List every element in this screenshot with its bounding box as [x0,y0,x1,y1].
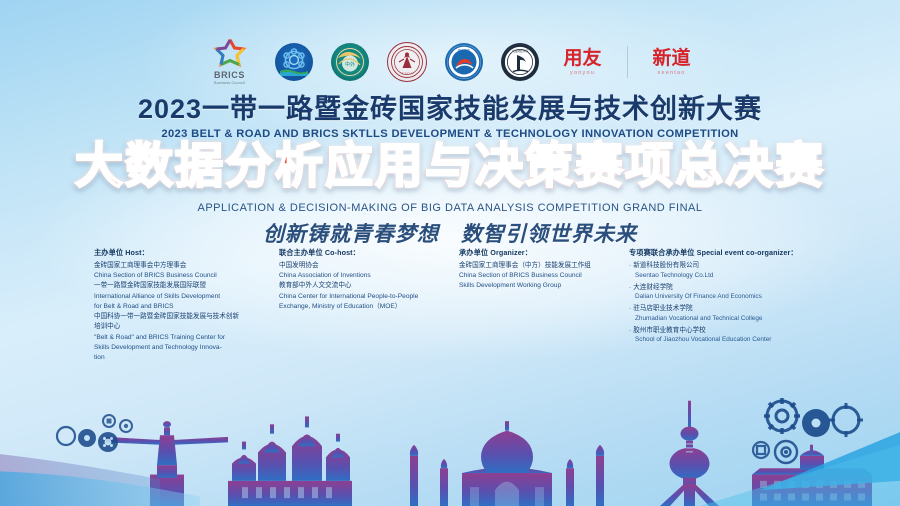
logo-divider [627,46,628,78]
organizer-credits: 主办单位 Host： 金砖国家工商理事会中方理事会 China Section … [94,248,834,363]
st-basils-cathedral-silhouette [228,416,352,506]
host-line: 中国科协一带一路暨金砖国家技能发展与技术创新 [94,312,279,322]
svg-text:C.S.D.A: C.S.D.A [401,72,412,76]
svg-text:职业教育: 职业教育 [457,48,469,53]
special-item-cn: 驻马店职业技术学院 [633,305,692,312]
special-coorganizer-item: ·新道科技股份有限公司 Seentao Technology Co.Ltd [629,261,834,281]
organizer-line: Skills Development Working Group [459,281,629,291]
cohost-line: 中国发明协会 [279,261,459,271]
competition-title-cn: 2023一带一路暨金砖国家技能发展与技术创新大赛 [0,96,900,123]
special-item-en: Dalian University Of Finance And Economi… [629,292,834,302]
event-tagline: 创新铸就青春梦想 数智引领世界未来 [0,218,900,248]
host-line: Skills Development and Technology Innova… [94,343,279,353]
skills-alliance-logo: C.S.D.A [387,42,427,82]
cohost-line: 教育部中外人文交流中心 [279,281,459,291]
organizer-line: 金砖国家工商理事会（中方）技能发展工作组 [459,261,629,271]
host-line: for Belt & Road and BRICS [94,302,279,312]
special-item-cn: 胶州市职业教育中心学校 [633,327,706,334]
university-emblem-logo: 大连财经学院 [501,43,539,81]
cohost-column: 联合主办单位 Co-host： 中国发明协会 China Association… [279,248,459,312]
host-line: tion [94,353,279,363]
cohost-line: Exchange, Ministry of Education（MOE） [279,302,459,312]
gear-cluster-left [52,410,144,456]
bullet-icon: · [629,284,631,291]
cohost-line: China Association of Inventions [279,271,459,281]
competition-poster: BRICS Business Council [0,0,900,506]
special-coorganizer-item: ·驻马店职业技术学院 Zhumadian Vocational and Tech… [629,304,834,324]
svg-text:大连财经学院: 大连财经学院 [511,49,528,53]
brics-logo-sublabel: Business Council [214,81,245,85]
competition-title-en: 2023 BELT & ROAD AND BRICS SKTLLS DEVELO… [0,128,900,140]
yonyou-logo-label: 用友 [563,49,601,68]
cohost-line: China Center for International People-to… [279,292,459,302]
special-item-cn: 大连财经学院 [633,284,673,291]
special-item-en: Zhumadian Vocational and Technical Colle… [629,314,834,324]
gear-cluster-right [748,390,872,470]
seentao-logo: 新道 seentao [646,43,698,81]
brics-business-council-logo: BRICS Business Council [203,37,257,87]
yonyou-logo: 用友 yonyou [557,43,609,81]
oriental-pearl-tower-silhouette [660,401,719,506]
organizer-column: 承办单位 Organizer： 金砖国家工商理事会（中方）技能发展工作组 Chi… [459,248,629,292]
bullet-icon: · [629,305,631,312]
bottom-artwork [0,366,900,506]
special-item-en: Seentao Technology Co.Ltd [629,271,834,281]
organizer-line: China Section of BRICS Business Council [459,271,629,281]
host-line: International Alliance of Skills Develop… [94,292,279,302]
svg-text:中外: 中外 [344,61,354,68]
special-coorganizer-heading: 专项赛联合承办单位 Special event co-organizer： [629,248,834,258]
bullet-icon: · [629,262,631,269]
host-line: 一带一路暨金砖国家技能发展国际联盟 [94,281,279,291]
host-line: China Section of BRICS Business Council [94,271,279,281]
host-line: "Belt & Road" and BRICS Training Center … [94,333,279,343]
seentao-logo-label: 新道 [652,49,690,68]
special-item-cn: 新道科技股份有限公司 [633,262,699,269]
organizer-heading: 承办单位 Organizer： [459,248,629,258]
brics-star-icon [213,39,247,70]
special-coorganizer-item: ·胶州市职业教育中心学校 School of Jiaozhou Vocation… [629,326,834,346]
yonyou-logo-sublabel: yonyou [570,70,595,76]
host-column: 主办单位 Host： 金砖国家工商理事会中方理事会 China Section … [94,248,279,363]
cohost-heading: 联合主办单位 Co-host： [279,248,459,258]
event-headline-cn: 大数据分析应用与决策赛项总决赛 [0,141,900,194]
event-headline-en: APPLICATION & DECISION-MAKING OF BIG DAT… [0,202,900,214]
moe-people-to-people-exchange-logo: 中外 [331,43,369,81]
vocational-education-logo: 职业教育 [445,43,483,81]
special-coorganizer-column: 专项赛联合承办单位 Special event co-organizer： ·新… [629,248,834,347]
brics-logo-label: BRICS [214,71,245,80]
sponsor-logo-strip: BRICS Business Council [0,36,900,88]
bullet-icon: · [629,327,631,334]
host-heading: 主办单位 Host： [94,248,279,258]
seentao-logo-sublabel: seentao [658,70,686,76]
china-association-of-inventions-logo [275,43,313,81]
host-line: 培训中心 [94,322,279,332]
special-coorganizer-item: ·大连财经学院 Dalian University Of Finance And… [629,283,834,303]
host-line: 金砖国家工商理事会中方理事会 [94,261,279,271]
special-item-en: School of Jiaozhou Vocational Education … [629,335,834,345]
taj-mahal-silhouette [410,421,604,506]
